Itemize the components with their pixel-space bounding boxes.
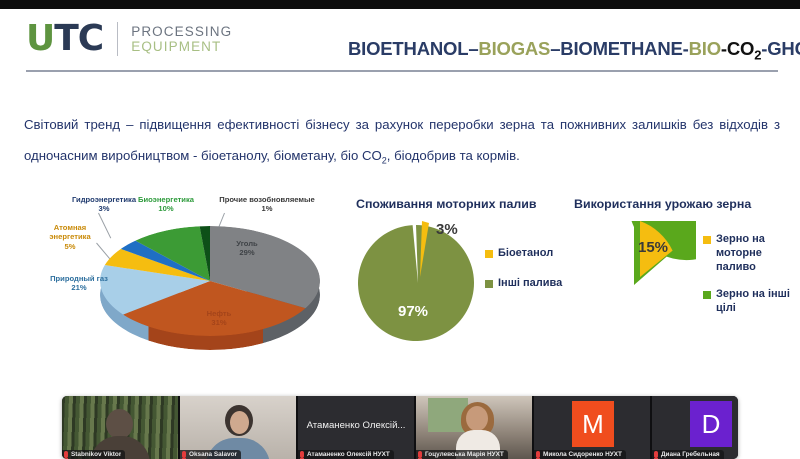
- participant-silhouette-head: [106, 409, 133, 439]
- logo-u-letter: U: [26, 21, 54, 57]
- participant-name: Oksana Salavor: [189, 451, 237, 458]
- pie-label-bioenergy-value: 10%: [126, 204, 206, 213]
- participant-nametag: Stabnikov Viktor: [62, 450, 125, 459]
- participant-name: Атаманенко Олексій НУХТ: [307, 451, 390, 458]
- pie-label-natural-gas-value: 21%: [46, 283, 112, 292]
- grain-use-pct-other: 85%: [612, 295, 642, 312]
- logo-wordmark: UTC: [26, 21, 103, 57]
- legend-swatch-grain-motor-fuel: [703, 236, 711, 244]
- participant-name: Stabnikov Viktor: [71, 451, 121, 458]
- title-part-bioethanol: BIOETHANOL: [348, 38, 468, 59]
- participant-nametag: Атаманенко Олексій НУХТ: [298, 450, 394, 459]
- participant-tile[interactable]: D Диана Гребельная: [652, 396, 738, 459]
- motor-fuel-pct-other: 97%: [398, 303, 428, 320]
- participant-silhouette-head: [466, 406, 488, 431]
- grain-use-pie-graphic: [576, 221, 696, 341]
- microphone-muted-icon: [536, 451, 540, 458]
- title-part-bio: BIO: [689, 38, 721, 59]
- participant-tile[interactable]: Oksana Salavor: [180, 396, 298, 459]
- pie-label-coal-name: Уголь: [218, 239, 276, 248]
- slide-body-text: Світовий тренд – підвищення ефективності…: [24, 109, 780, 177]
- participant-tile[interactable]: Stabnikov Viktor: [62, 396, 180, 459]
- legend-item-other-fuels: Інші палива: [485, 277, 562, 291]
- participant-name: Гоцулевська Марія НУХТ: [425, 451, 504, 458]
- microphone-muted-icon: [300, 451, 304, 458]
- title-part-ghg: -GHG: [761, 38, 800, 59]
- pie-label-oil-name: Нефть: [190, 309, 248, 318]
- microphone-muted-icon: [182, 451, 186, 458]
- title-dash-2: –: [550, 38, 560, 59]
- participant-nametag: Микола Сидоренко НУХТ: [534, 450, 626, 459]
- utc-logo: UTC PROCESSING EQUIPMENT: [26, 21, 232, 57]
- pie-label-coal-value: 29%: [218, 248, 276, 257]
- presentation-slide: UTC PROCESSING EQUIPMENT BIOETHANOL–BIOG…: [0, 9, 800, 459]
- pie-label-bioenergy: Биоэнергетика 10%: [126, 195, 206, 214]
- body-text-line2a: одночасним виробництвом - біоетанолу, бі…: [24, 148, 382, 163]
- grain-use-pct-motor-fuel: 15%: [638, 239, 668, 256]
- participant-nametag: Диана Гребельная: [652, 450, 724, 459]
- charts-row: Гидроэнергетика 3% Биоэнергетика 10% Про…: [0, 191, 800, 376]
- header-divider-rule: [26, 70, 778, 72]
- motor-fuel-pie-graphic: [358, 221, 478, 341]
- title-part-biomethane: BIOMETHANE: [560, 38, 682, 59]
- title-part-biogas: BIOGAS: [478, 38, 550, 59]
- participant-name: Микола Сидоренко НУХТ: [543, 451, 622, 458]
- pie-label-bioenergy-name: Биоэнергетика: [126, 195, 206, 204]
- pie-label-atomic: Атомная энергетика 5%: [34, 223, 106, 251]
- legend-item-grain-other: Зерно на інші цілі: [703, 288, 800, 316]
- pie-label-oil: Нефть 31%: [190, 309, 248, 328]
- participant-silhouette-face: [230, 411, 249, 434]
- participant-nametag: Oksana Salavor: [180, 450, 241, 459]
- slide-title: BIOETHANOL–BIOGAS–BIOMETHANE-BIO-CO2-GHG: [348, 38, 800, 63]
- grain-use-legend: Зерно на моторне паливо Зерно на інші ці…: [703, 233, 800, 330]
- avatar: M: [572, 401, 614, 447]
- pie-label-atomic-name: Атомная энергетика: [34, 223, 106, 242]
- legend-label-other-fuels: Інші палива: [498, 277, 562, 291]
- legend-item-bioethanol: Біоетанол: [485, 247, 562, 261]
- motor-fuel-legend: Біоетанол Інші палива: [485, 247, 562, 307]
- logo-tc-letters: TC: [54, 21, 103, 57]
- legend-swatch-other-fuels: [485, 280, 493, 288]
- grain-use-pie-svg: [576, 221, 696, 341]
- motor-fuel-pie-svg: [358, 221, 478, 341]
- title-dash-1: –: [468, 38, 478, 59]
- pie-label-atomic-value: 5%: [34, 242, 106, 251]
- logo-tagline-line2: EQUIPMENT: [131, 39, 232, 54]
- pie-label-other-renewables: Прочие возобновляемые 1%: [208, 195, 326, 214]
- legend-swatch-grain-other: [703, 291, 711, 299]
- pie-label-natural-gas-name: Природный газ: [46, 274, 112, 283]
- microphone-muted-icon: [64, 451, 68, 458]
- logo-tagline-line1: PROCESSING: [131, 24, 232, 39]
- participant-tile[interactable]: M Микола Сидоренко НУХТ: [534, 396, 652, 459]
- window-top-bar: [0, 0, 800, 9]
- video-conference-filmstrip[interactable]: Stabnikov Viktor Oksana Salavor Атаманен…: [62, 396, 738, 459]
- logo-tagline: PROCESSING EQUIPMENT: [131, 24, 232, 54]
- active-speaker-name-overlay: Атаманенко Олексій...: [298, 420, 414, 431]
- pie3d-graphic: [100, 226, 320, 356]
- participant-tile-active-speaker[interactable]: Атаманенко Олексій... Атаманенко Олексій…: [298, 396, 416, 459]
- body-text-line2b: , біодобрив та кормів.: [387, 148, 520, 163]
- legend-label-bioethanol: Біоетанол: [498, 247, 553, 261]
- chart-motor-fuel-title: Споживання моторних палив: [356, 197, 536, 211]
- microphone-muted-icon: [418, 451, 422, 458]
- microphone-muted-icon: [654, 451, 658, 458]
- slide-header: UTC PROCESSING EQUIPMENT BIOETHANOL–BIOG…: [0, 9, 800, 71]
- pie-label-natural-gas: Природный газ 21%: [46, 274, 112, 293]
- avatar: D: [690, 401, 732, 447]
- chart-motor-fuel-consumption: Споживання моторних палив 3% 97% Біоетан…: [352, 191, 564, 371]
- legend-label-grain-other: Зерно на інші цілі: [716, 288, 800, 316]
- participant-nametag: Гоцулевська Марія НУХТ: [416, 450, 508, 459]
- participant-name: Диана Гребельная: [661, 451, 720, 458]
- pie-label-other-renewables-value: 1%: [208, 204, 326, 213]
- legend-label-grain-motor-fuel: Зерно на моторне паливо: [716, 233, 800, 274]
- chart-grain-harvest-use: Використання урожаю зерна 15% 85% Зерно …: [570, 191, 796, 371]
- body-text-line1: Світовий тренд – підвищення ефективності…: [24, 117, 780, 132]
- legend-swatch-bioethanol: [485, 250, 493, 258]
- legend-item-grain-motor-fuel: Зерно на моторне паливо: [703, 233, 800, 274]
- chart-world-energy-mix: Гидроэнергетика 3% Биоэнергетика 10% Про…: [18, 191, 348, 371]
- chart-grain-use-title: Використання урожаю зерна: [574, 197, 751, 211]
- participant-tile[interactable]: Гоцулевська Марія НУХТ: [416, 396, 534, 459]
- title-part-co: CO: [727, 38, 754, 59]
- logo-divider: [117, 22, 118, 56]
- pie-label-other-renewables-name: Прочие возобновляемые: [208, 195, 326, 204]
- pie-label-coal: Уголь 29%: [218, 239, 276, 258]
- pie-label-oil-value: 31%: [190, 318, 248, 327]
- motor-fuel-pct-bioethanol: 3%: [436, 221, 458, 238]
